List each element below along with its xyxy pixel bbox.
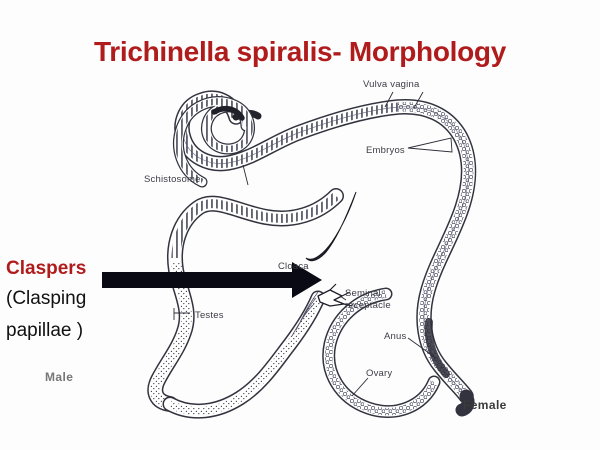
ovary-leader-line <box>352 378 368 396</box>
schistosome-leader-line <box>243 165 248 185</box>
claspers-callout-heading: Claspers <box>6 258 86 280</box>
annotation-anus: Anus <box>384 331 406 342</box>
annotation-seminal-receptacle-line1: Seminal <box>345 288 381 299</box>
embryos-leader-wedge <box>408 138 452 152</box>
female-label: Female <box>463 398 507 412</box>
annotation-seminal-receptacle-line2: receptacle <box>345 300 391 311</box>
claspers-callout-subline-1: (Clasping <box>6 288 86 310</box>
annotation-schistosome: Schistosome <box>144 174 201 185</box>
annotation-vulva-vagina: Vulva vagina <box>363 79 419 90</box>
annotation-ovary: Ovary <box>366 368 392 379</box>
annotation-embryos: Embryos <box>366 145 405 156</box>
claspers-callout-subline-2: papillae ) <box>6 320 83 342</box>
annotation-testes: Testes <box>195 310 224 321</box>
male-label: Male <box>45 370 73 384</box>
annotation-cloaca: Cloaca <box>278 261 309 272</box>
trichinella-spiralis-diagram <box>0 0 600 450</box>
slide-canvas: Trichinella spiralis- Morphology <box>0 0 600 450</box>
